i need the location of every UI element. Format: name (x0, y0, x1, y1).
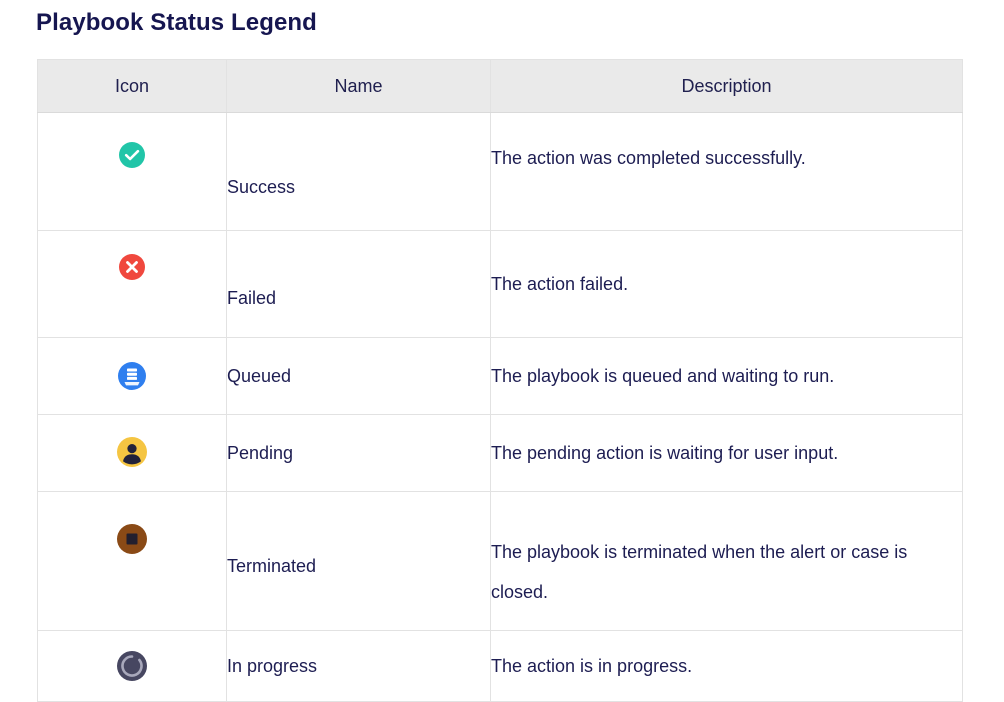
success-check-icon (118, 141, 146, 169)
queued-stack-icon (117, 361, 147, 391)
page-title: Playbook Status Legend (36, 8, 317, 38)
table-row: In progress The action is in progress. (38, 631, 963, 702)
playbook-status-legend-page: Playbook Status Legend Icon Name Descrip… (0, 0, 1004, 656)
status-name: Success (227, 113, 491, 231)
status-icon-cell (38, 492, 227, 631)
status-icon-cell (38, 631, 227, 702)
table-row: Pending The pending action is waiting fo… (38, 415, 963, 492)
status-description: The playbook is terminated when the aler… (491, 492, 963, 631)
status-name: Terminated (227, 492, 491, 631)
column-header-name: Name (227, 60, 491, 113)
status-name: Pending (227, 415, 491, 492)
column-header-description: Description (491, 60, 963, 113)
table-body: Success The action was completed success… (38, 113, 963, 702)
failed-cross-icon (118, 253, 146, 281)
status-description: The action failed. (491, 231, 963, 338)
column-header-icon: Icon (38, 60, 227, 113)
status-description: The action was completed successfully. (491, 113, 963, 231)
in-progress-spinner-icon (116, 650, 148, 682)
terminated-stop-icon (116, 523, 148, 555)
status-name: In progress (227, 631, 491, 702)
status-description: The playbook is queued and waiting to ru… (491, 338, 963, 415)
table-header-row: Icon Name Description (38, 60, 963, 113)
playbook-status-legend-table: Icon Name Description Success The action… (37, 59, 963, 702)
status-name: Failed (227, 231, 491, 338)
status-icon-cell (38, 338, 227, 415)
status-description: The pending action is waiting for user i… (491, 415, 963, 492)
status-icon-cell (38, 231, 227, 338)
table-row: Success The action was completed success… (38, 113, 963, 231)
status-icon-cell (38, 113, 227, 231)
table-header: Icon Name Description (38, 60, 963, 113)
table-row: Queued The playbook is queued and waitin… (38, 338, 963, 415)
status-icon-cell (38, 415, 227, 492)
table-row: Failed The action failed. (38, 231, 963, 338)
table-row: Terminated The playbook is terminated wh… (38, 492, 963, 631)
status-name: Queued (227, 338, 491, 415)
pending-user-icon (116, 436, 148, 468)
status-description: The action is in progress. (491, 631, 963, 702)
